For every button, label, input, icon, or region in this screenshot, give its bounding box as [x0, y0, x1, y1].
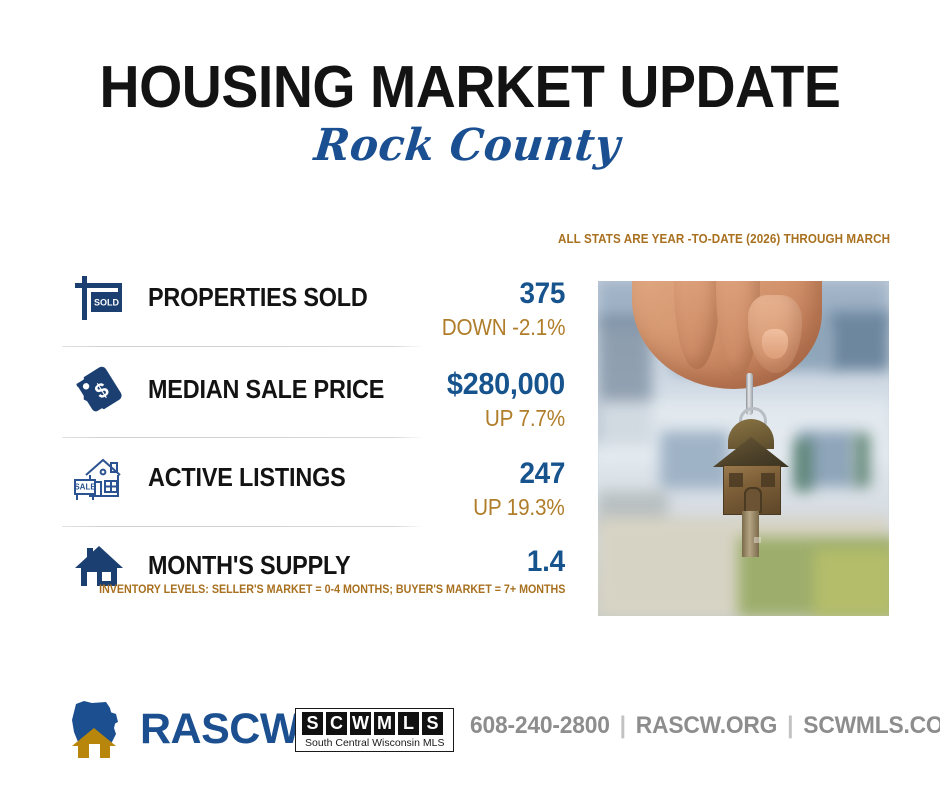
stat-value: 375	[519, 278, 565, 310]
price-tag-icon: $	[68, 362, 130, 418]
stat-change: DOWN -2.1%	[441, 314, 565, 340]
scwmls-letter: C	[326, 712, 347, 735]
page-title: HOUSING MARKET UPDATE	[28, 57, 912, 117]
stat-row: MONTH'S SUPPLY 1.4 INVENTORY LEVELS: SEL…	[62, 528, 562, 608]
scwmls-letter: W	[350, 712, 371, 735]
rascw-website[interactable]: RASCW.ORG	[636, 712, 777, 739]
stat-label: PROPERTIES SOLD	[148, 282, 368, 312]
stat-value: $280,000	[447, 368, 565, 400]
scwmls-letter: S	[422, 712, 443, 735]
stat-note: INVENTORY LEVELS: SELLER'S MARKET = 0-4 …	[99, 584, 565, 596]
photo-blur-shape	[794, 439, 812, 491]
stats-list: SOLD PROPERTIES SOLD 375 DOWN -2.1% $	[62, 272, 562, 608]
contact-line: 608-240-2800 | RASCW.ORG | SCWMLS.COM	[470, 712, 940, 740]
scwmls-letter: M	[374, 712, 395, 735]
rascw-wordmark: RASCW	[140, 707, 300, 751]
key-photo	[598, 281, 889, 616]
scwmls-letter: L	[398, 712, 419, 735]
house-key-fob	[716, 419, 786, 525]
fob-window	[729, 473, 743, 487]
stat-row: SOLD PROPERTIES SOLD 375 DOWN -2.1%	[62, 272, 562, 348]
scwmls-logo[interactable]: S C W M L S South Central Wisconsin MLS	[295, 708, 454, 752]
house-for-sale-icon: SALE	[68, 450, 130, 506]
scwmls-subtitle-row: South Central Wisconsin MLS	[302, 737, 447, 749]
sold-sign-icon: SOLD	[68, 270, 130, 326]
stat-row: $ MEDIAN SALE PRICE $280,000 UP 7.7%	[62, 348, 562, 438]
key-blade	[742, 511, 759, 557]
scwmls-letter: S	[302, 712, 323, 735]
photo-blur-shape	[830, 311, 889, 371]
footer: RASCW S C W M L S South Central Wisconsi…	[0, 690, 940, 770]
phone-number[interactable]: 608-240-2800	[470, 712, 610, 739]
stat-value: 247	[519, 458, 565, 490]
key-notch	[754, 537, 761, 543]
scwmls-letters: S C W M L S	[302, 712, 447, 735]
separator: |	[783, 712, 797, 739]
stat-value: 1.4	[527, 546, 565, 578]
scwmls-subtitle: South Central Wisconsin MLS	[305, 737, 444, 749]
finger	[674, 281, 720, 369]
ytd-note: ALL STATS ARE YEAR -TO-DATE (2026) THROU…	[558, 232, 890, 246]
stat-label: MEDIAN SALE PRICE	[148, 374, 384, 404]
stat-row: SALE ACTIVE LISTINGS 247 UP 19.3%	[62, 438, 562, 528]
scwmls-website[interactable]: SCWMLS.COM	[803, 712, 940, 739]
separator: |	[616, 712, 630, 739]
stat-change: UP 7.7%	[485, 405, 565, 431]
infographic-page: HOUSING MARKET UPDATE Rock County ALL ST…	[0, 0, 940, 788]
fob-roof	[713, 437, 789, 467]
photo-blur-shape	[854, 433, 870, 487]
divider	[62, 346, 423, 347]
fob-door	[744, 487, 762, 513]
photo-blur-shape	[814, 549, 889, 616]
stat-label: MONTH'S SUPPLY	[148, 550, 350, 580]
divider	[62, 526, 423, 527]
svg-text:SOLD: SOLD	[94, 298, 120, 308]
page-subtitle: Rock County	[13, 120, 921, 172]
svg-text:SALE: SALE	[74, 483, 96, 492]
stat-label: ACTIVE LISTINGS	[148, 462, 346, 492]
fob-window	[761, 473, 775, 487]
wisconsin-house-icon	[62, 698, 128, 760]
stat-change: UP 19.3%	[474, 494, 565, 520]
rascw-logo[interactable]: RASCW	[62, 698, 300, 760]
